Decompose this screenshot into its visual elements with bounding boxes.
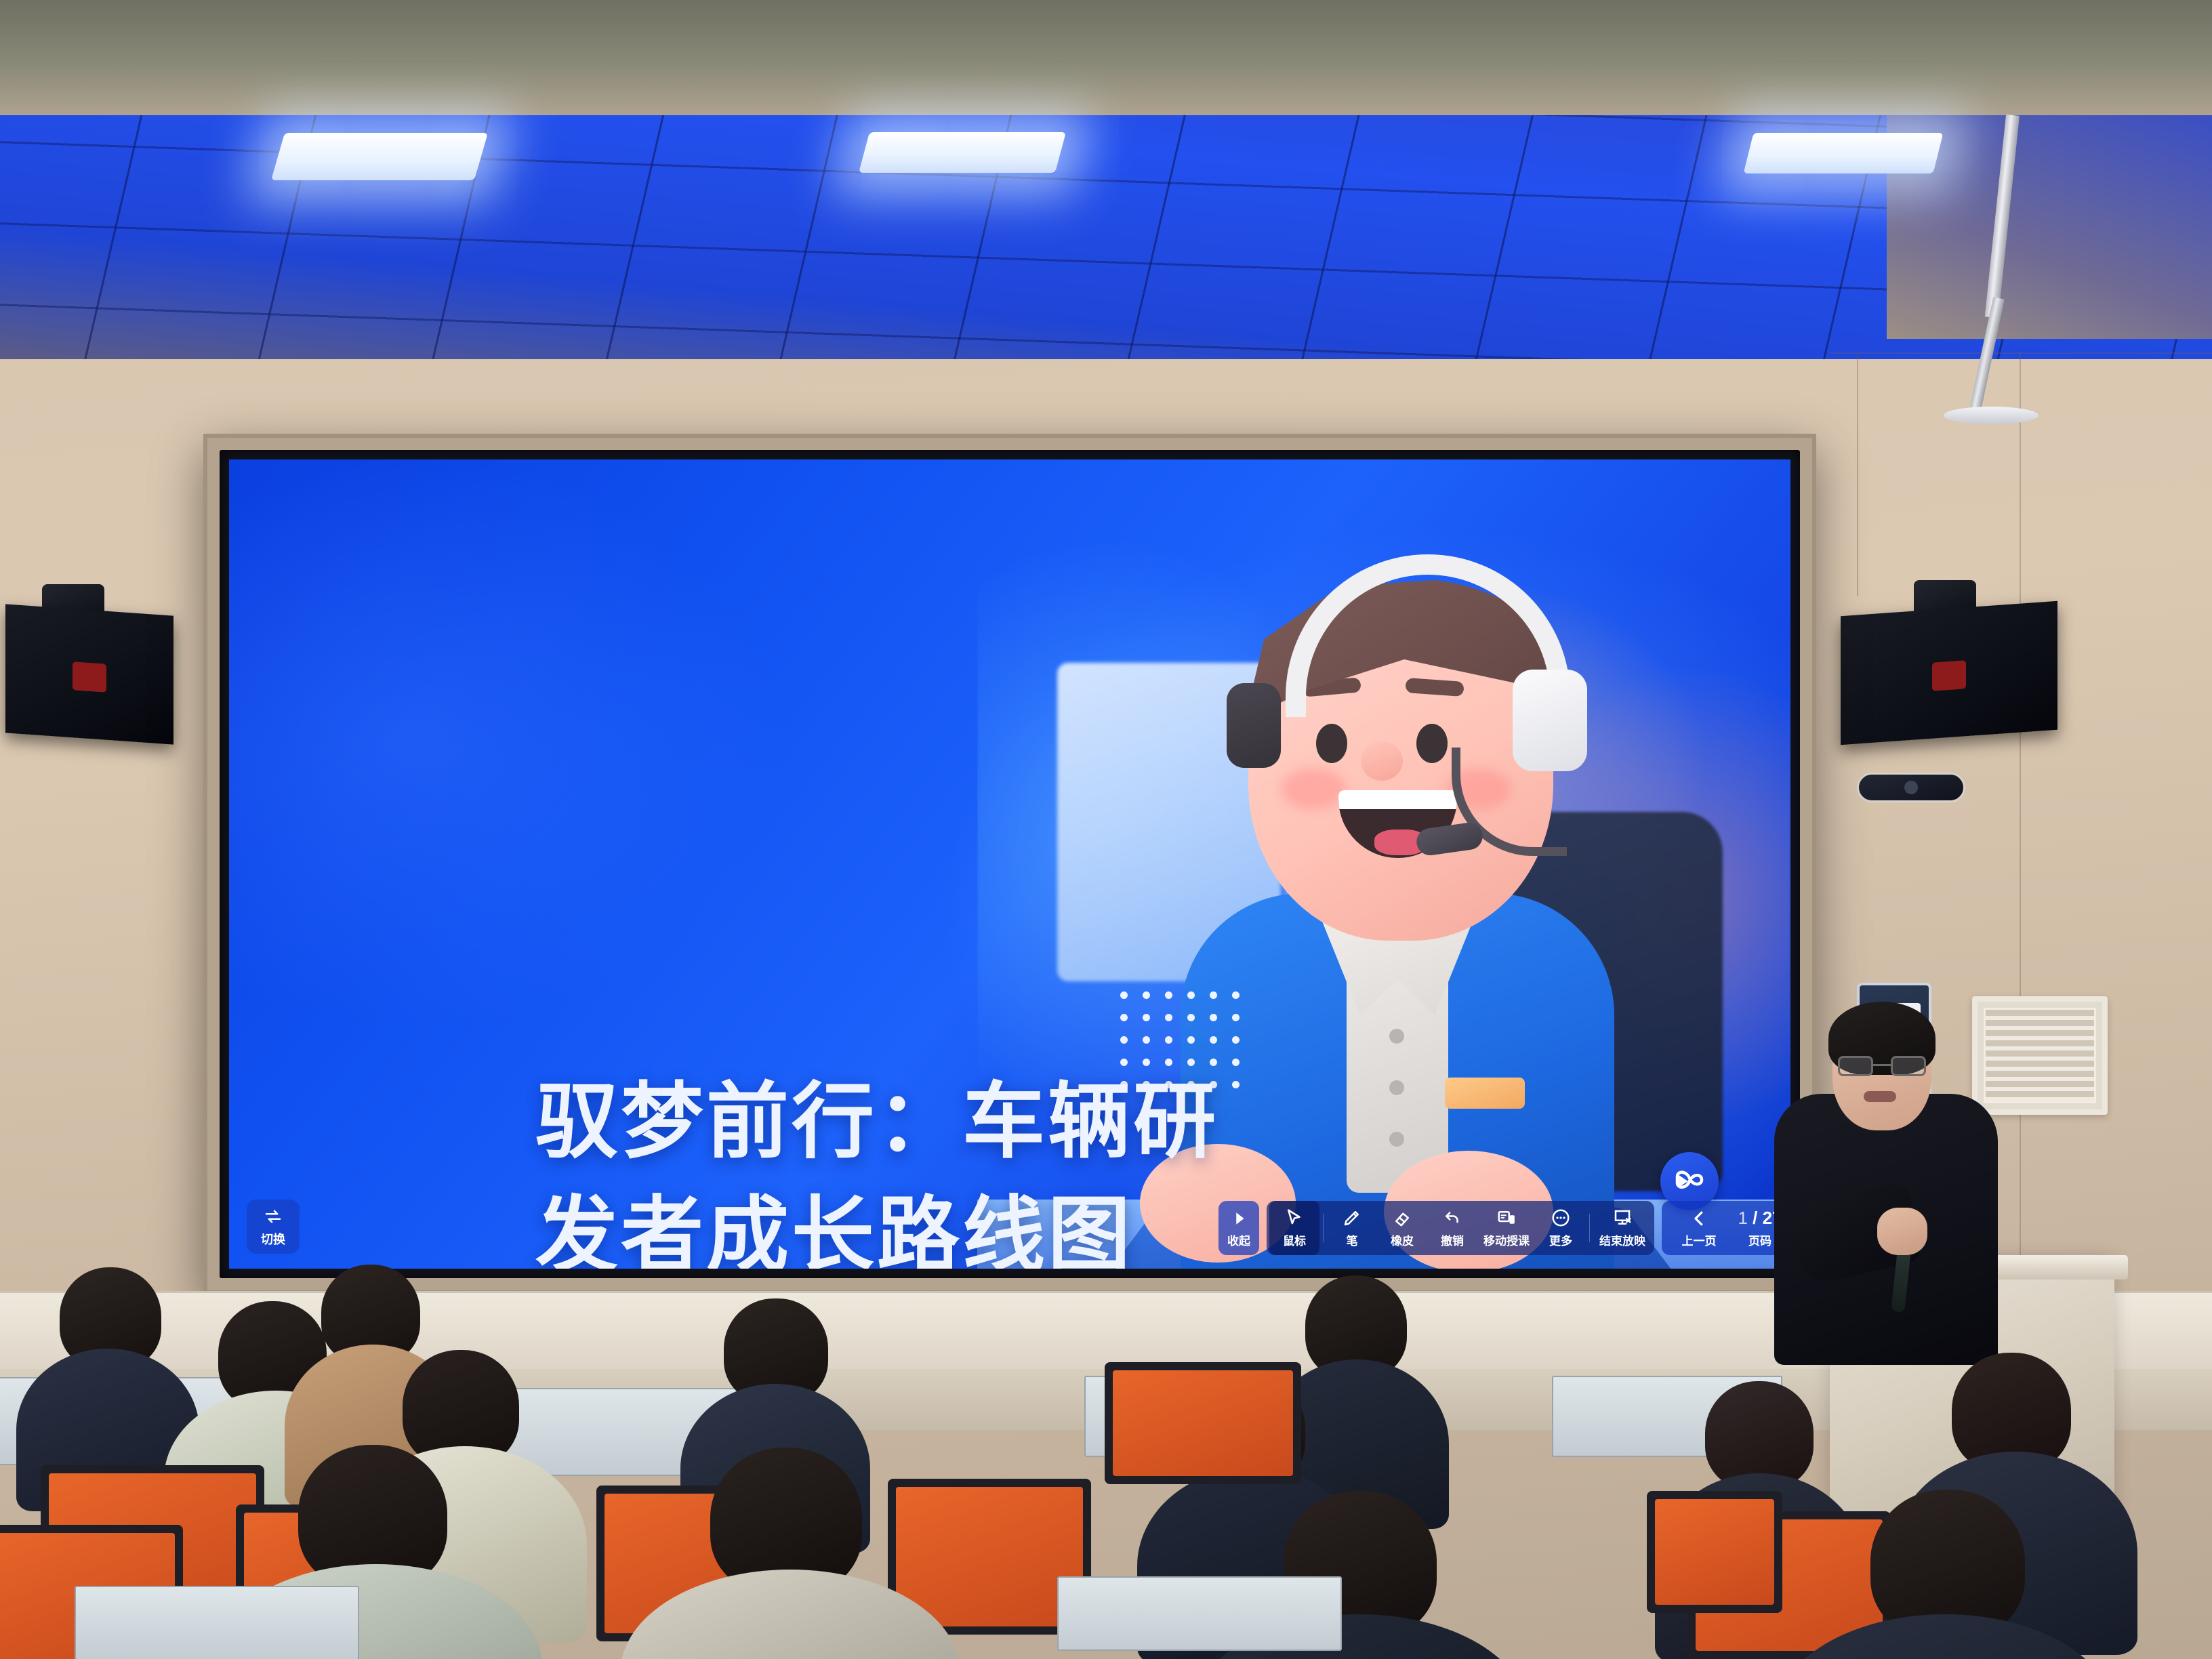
audience-chair: [1105, 1362, 1301, 1484]
ceiling-light: [271, 133, 488, 180]
eyeglass-bridge: [1873, 1064, 1891, 1066]
student-desk: [1057, 1576, 1342, 1651]
headset-earcup-far: [1227, 683, 1281, 768]
person-shoulders: [621, 1570, 960, 1659]
audience-person: [644, 1448, 928, 1659]
speaker-brand-badge: [73, 661, 106, 692]
audience-chair: [1647, 1491, 1782, 1613]
person-shoulders: [1776, 1614, 2114, 1659]
character-button: [1389, 1029, 1404, 1044]
character-eye: [1416, 724, 1448, 763]
ceiling-light: [1744, 133, 1944, 173]
play-infinity-icon: [1671, 1163, 1708, 1200]
display-outer-frame: 驭梦前行：车辆研 发者成长路线图 汇报人:刘昌俊 时间:2025/11/12 切…: [203, 434, 1816, 1294]
audience-area: [0, 1206, 2212, 1659]
wall-seam: [1857, 352, 1858, 596]
student-desk: [75, 1586, 359, 1659]
upper-wall-band: [0, 0, 2212, 119]
chair-cushion: [1655, 1499, 1774, 1605]
eyeglass-lens: [1891, 1056, 1926, 1076]
character-eye: [1316, 724, 1347, 763]
camera-lens-icon: [1904, 781, 1918, 794]
wall-seam: [2020, 352, 2021, 1301]
character-name-badge: [1445, 1078, 1525, 1109]
eyeglasses-icon: [1838, 1056, 1926, 1076]
character-nose: [1361, 741, 1403, 781]
lecture-hall-scene: 驭梦前行：车辆研 发者成长路线图 汇报人:刘昌俊 时间:2025/11/12 切…: [0, 0, 2212, 1659]
character-blush: [1281, 769, 1346, 809]
chair-cushion: [1113, 1370, 1293, 1476]
presenter-mouth: [1864, 1091, 1896, 1102]
speaker-brand-badge: [1932, 660, 1966, 691]
right-wall-speaker: [1841, 601, 2057, 745]
slide-title-line1: 驭梦前行：车辆研: [535, 1066, 1430, 1180]
left-wall-speaker: [5, 604, 173, 744]
ceiling-mount-plate: [1944, 407, 2039, 424]
audience-person: [1796, 1490, 2094, 1659]
camera-bar: [1857, 773, 1965, 802]
display-bezel: 驭梦前行：车辆研 发者成长路线图 汇报人:刘昌俊 时间:2025/11/12 切…: [220, 450, 1800, 1278]
ceiling-light: [859, 132, 1066, 173]
presentation-screen[interactable]: 驭梦前行：车辆研 发者成长路线图 汇报人:刘昌俊 时间:2025/11/12 切…: [229, 459, 1790, 1269]
eyeglass-lens: [1838, 1056, 1873, 1076]
wall-seam: [1830, 352, 2212, 354]
audience-person: [27, 1267, 183, 1471]
